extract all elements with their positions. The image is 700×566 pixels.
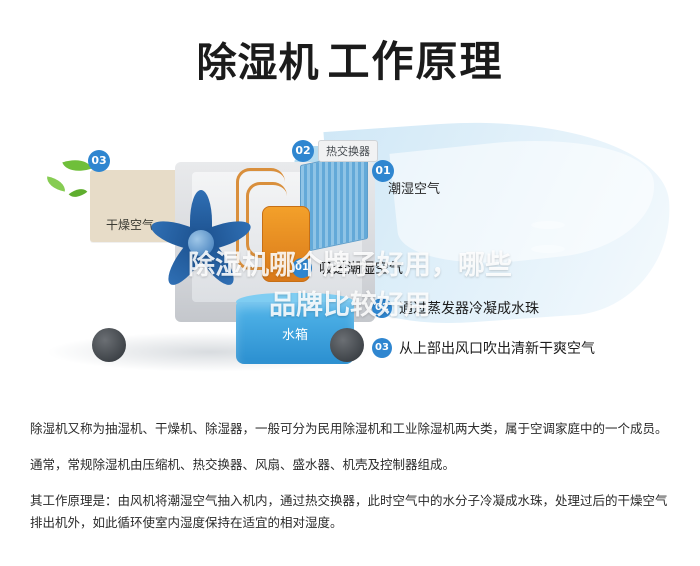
caster-wheel — [330, 328, 364, 362]
fan-icon — [140, 182, 260, 302]
article-body: 除湿机又称为抽湿机、干燥机、除湿器，一般可分为民用除湿机和工业除湿机两大类，属于… — [30, 418, 670, 548]
paragraph-1: 除湿机又称为抽湿机、干燥机、除湿器，一般可分为民用除湿机和工业除湿机两大类，属于… — [30, 418, 670, 440]
step-number: 03 — [372, 338, 392, 358]
heat-exchanger-coil — [300, 151, 368, 253]
infographic-page: 除湿机工作原理 干燥空气 — [0, 0, 700, 566]
step-number: 02 — [372, 298, 392, 318]
title-part-1: 除湿机 — [196, 40, 319, 86]
step-item-2: 02 通过蒸发器冷凝成水珠 — [372, 298, 539, 318]
callout-bubble-03: 03 — [88, 150, 110, 172]
callout-bubble-02: 02 — [292, 140, 314, 162]
paragraph-2: 通常，常规除湿机由压缩机、热交换器、风扇、盛水器、机壳及控制器组成。 — [30, 454, 670, 476]
step-text: 从上部出风口吹出清新干爽空气 — [399, 338, 595, 358]
step-text: 通过蒸发器冷凝成水珠 — [399, 298, 539, 318]
heat-exchanger-tag: 热交换器 — [318, 140, 378, 162]
step-item-3: 03 从上部出风口吹出清新干爽空气 — [372, 338, 595, 358]
wet-air-label: 潮湿空气 — [388, 178, 440, 197]
step-item-1: 01 吸进潮湿空气 — [292, 258, 403, 278]
leaf-icon — [69, 184, 88, 202]
step-number: 01 — [292, 258, 312, 278]
step-text: 吸进潮湿空气 — [319, 258, 403, 278]
fan-hub — [188, 230, 214, 256]
dehumidifier-diagram: 干燥空气 水箱 03 02 01 热交换器 潮 — [0, 110, 700, 400]
caster-wheel — [92, 328, 126, 362]
compressor-ring — [531, 245, 565, 253]
compressor-ring — [531, 221, 565, 229]
paragraph-3: 其工作原理是：由风机将潮湿空气抽入机内，通过热交换器，此时空气中的水分子冷凝成水… — [30, 490, 670, 534]
leaf-icon — [45, 176, 67, 191]
page-title: 除湿机工作原理 — [0, 28, 700, 89]
title-part-2: 工作原理 — [327, 37, 503, 86]
